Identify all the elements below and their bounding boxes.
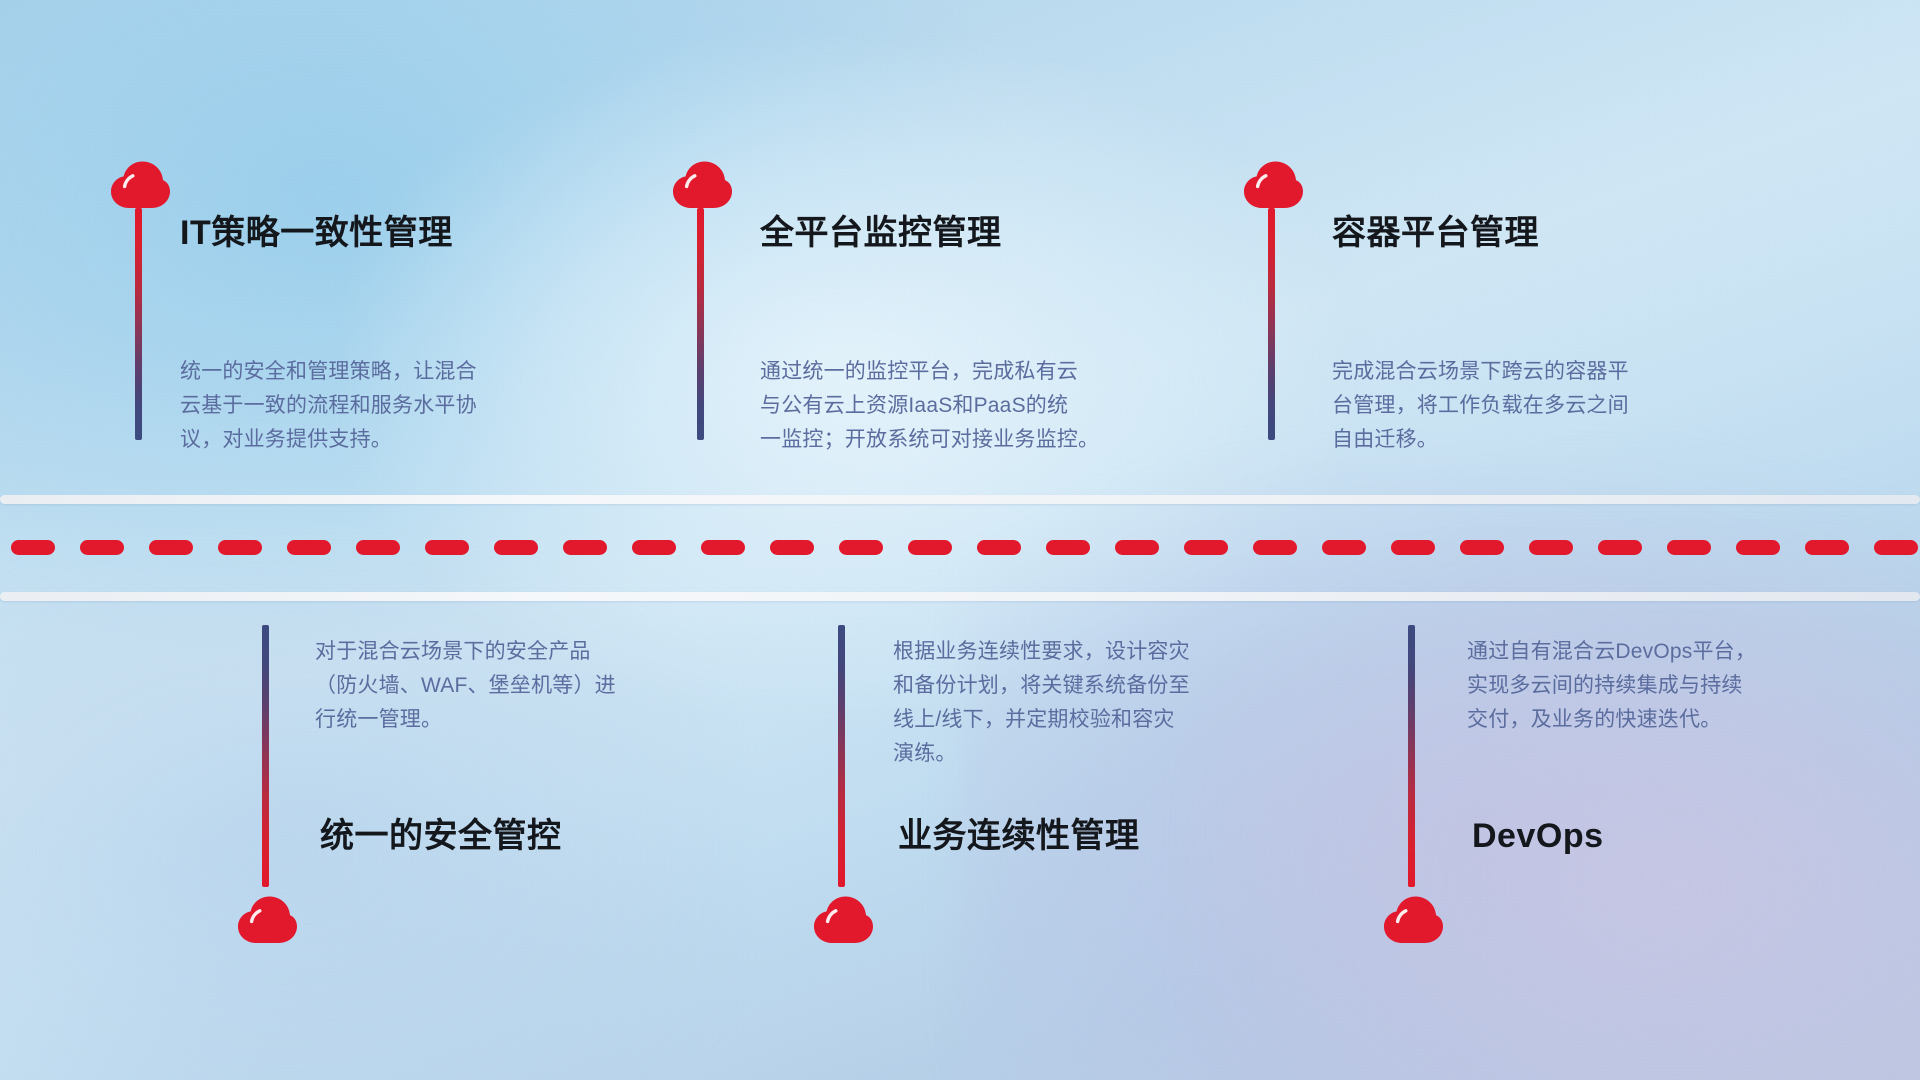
road-edge-line-top xyxy=(0,495,1920,504)
infographic-canvas: IT策略一致性管理 统一的安全和管理策略，让混合 云基于一致的流程和服务水平协 … xyxy=(0,0,1920,1080)
cloud-pin-icon xyxy=(1242,160,1304,210)
bottom-card-body-3: 通过自有混合云DevOps平台， 实现多云间的持续集成与持续 交付，及业务的快速… xyxy=(1467,635,1877,737)
road-dash-segment xyxy=(1046,540,1090,555)
top-card-body-3: 完成混合云场景下跨云的容器平 台管理，将工作负载在多云之间 自由迁移。 xyxy=(1332,355,1732,457)
road-dash-segment xyxy=(425,540,469,555)
road-dash-segment xyxy=(287,540,331,555)
road-dash-segment xyxy=(1460,540,1504,555)
road-dash-segment xyxy=(356,540,400,555)
road-dash-segment xyxy=(1805,540,1849,555)
bottom-card-body-1: 对于混合云场景下的安全产品 （防火墙、WAF、堡垒机等）进 行统一管理。 xyxy=(315,635,725,737)
road-edge-line-bottom xyxy=(0,592,1920,601)
road-dash-segment xyxy=(1391,540,1435,555)
pin-stem xyxy=(1408,625,1415,887)
road-dash-segment xyxy=(1667,540,1711,555)
pin-stem xyxy=(262,625,269,887)
road-dash-segment xyxy=(563,540,607,555)
bottom-card-title-2: 业务连续性管理 xyxy=(898,818,1140,855)
road-dash-segment xyxy=(1184,540,1228,555)
road-dash-segment xyxy=(632,540,676,555)
top-card-title-1: IT策略一致性管理 xyxy=(180,215,453,252)
cloud-pin-icon xyxy=(671,160,733,210)
road-dash-segment xyxy=(839,540,883,555)
road-dash-segment xyxy=(1322,540,1366,555)
road-dash-segment xyxy=(218,540,262,555)
pin-stem xyxy=(697,208,704,440)
top-card-title-3: 容器平台管理 xyxy=(1332,215,1539,252)
cloud-pin-icon xyxy=(236,895,298,945)
road-dash-segment xyxy=(977,540,1021,555)
road-dash-segment xyxy=(11,540,55,555)
top-card-body-2: 通过统一的监控平台，完成私有云 与公有云上资源IaaS和PaaS的统 一监控；开… xyxy=(760,355,1160,457)
road-dash-segment xyxy=(1529,540,1573,555)
road-dash-segment xyxy=(770,540,814,555)
top-card-body-1: 统一的安全和管理策略，让混合 云基于一致的流程和服务水平协 议，对业务提供支持。 xyxy=(180,355,552,457)
cloud-pin-icon xyxy=(1382,895,1444,945)
pin-stem xyxy=(135,208,142,440)
bottom-card-title-1: 统一的安全管控 xyxy=(320,818,562,855)
road-dash-segment xyxy=(1736,540,1780,555)
road-dash-segment xyxy=(1598,540,1642,555)
top-card-title-2: 全平台监控管理 xyxy=(760,215,1002,252)
pin-stem xyxy=(838,625,845,887)
road-dash-segment xyxy=(494,540,538,555)
road-dash-segment xyxy=(908,540,952,555)
pin-stem xyxy=(1268,208,1275,440)
cloud-pin-icon xyxy=(812,895,874,945)
bottom-card-body-2: 根据业务连续性要求，设计容灾 和备份计划，将关键系统备份至 线上/线下，并定期校… xyxy=(893,635,1303,771)
road-dash-segment xyxy=(149,540,193,555)
road-center-dashed-line xyxy=(0,540,1920,555)
road-dash-segment xyxy=(1874,540,1918,555)
cloud-pin-icon xyxy=(109,160,171,210)
road-dash-segment xyxy=(1115,540,1159,555)
road-dash-segment xyxy=(80,540,124,555)
bottom-card-title-3: DevOps xyxy=(1472,818,1604,855)
road-dash-segment xyxy=(1253,540,1297,555)
road-dash-segment xyxy=(701,540,745,555)
